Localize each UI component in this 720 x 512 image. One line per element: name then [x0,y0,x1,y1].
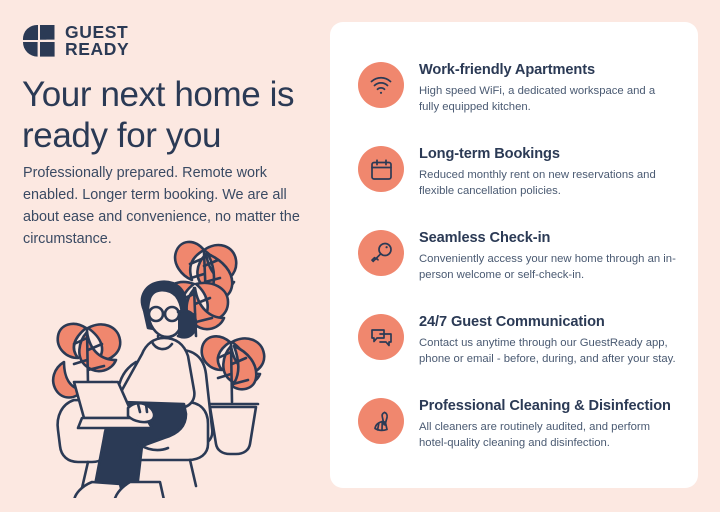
feature-text: Long-term Bookings Reduced monthly rent … [419,144,678,199]
feature-text: Professional Cleaning & Disinfection All… [419,396,678,451]
feature-item-guest-communication[interactable]: 24/7 Guest Communication Contact us anyt… [358,312,678,367]
feature-description: All cleaners are routinely audited, and … [419,419,678,451]
feature-item-work-friendly-apartments[interactable]: Work-friendly Apartments High speed WiFi… [358,60,678,115]
feature-description: Conveniently access your new home throug… [419,251,678,283]
brand-name-line2: READY [65,41,129,58]
hero-column: GUEST READY Your next home is ready for … [0,0,330,512]
feature-title: Seamless Check-in [419,230,550,246]
feature-description: High speed WiFi, a dedicated workspace a… [419,83,678,115]
feature-text: Seamless Check-in Conveniently access yo… [419,228,678,283]
feature-item-long-term-bookings[interactable]: Long-term Bookings Reduced monthly rent … [358,144,678,199]
guestready-logo-mark-icon [22,24,56,58]
hero-headline: Your next home is ready for you [22,74,322,157]
features-card: Work-friendly Apartments High speed WiFi… [330,22,698,488]
feature-text: Work-friendly Apartments High speed WiFi… [419,60,678,115]
feature-item-seamless-check-in[interactable]: Seamless Check-in Conveniently access yo… [358,228,678,283]
calendar-icon [358,146,404,192]
feature-text: 24/7 Guest Communication Contact us anyt… [419,312,678,367]
feature-description: Reduced monthly rent on new reservations… [419,167,678,199]
feature-description: Contact us anytime through our GuestRead… [419,335,678,367]
wifi-icon [358,62,404,108]
feature-title: 24/7 Guest Communication [419,314,605,330]
chat-bubbles-icon [358,314,404,360]
key-icon [358,230,404,276]
brand-logo[interactable]: GUEST READY [22,24,129,59]
brand-wordmark: GUEST READY [65,24,129,59]
feature-title: Work-friendly Apartments [419,62,595,78]
feature-item-professional-cleaning[interactable]: Professional Cleaning & Disinfection All… [358,396,678,451]
feature-title: Long-term Bookings [419,146,560,162]
broom-icon [358,398,404,444]
feature-title: Professional Cleaning & Disinfection [419,398,671,414]
